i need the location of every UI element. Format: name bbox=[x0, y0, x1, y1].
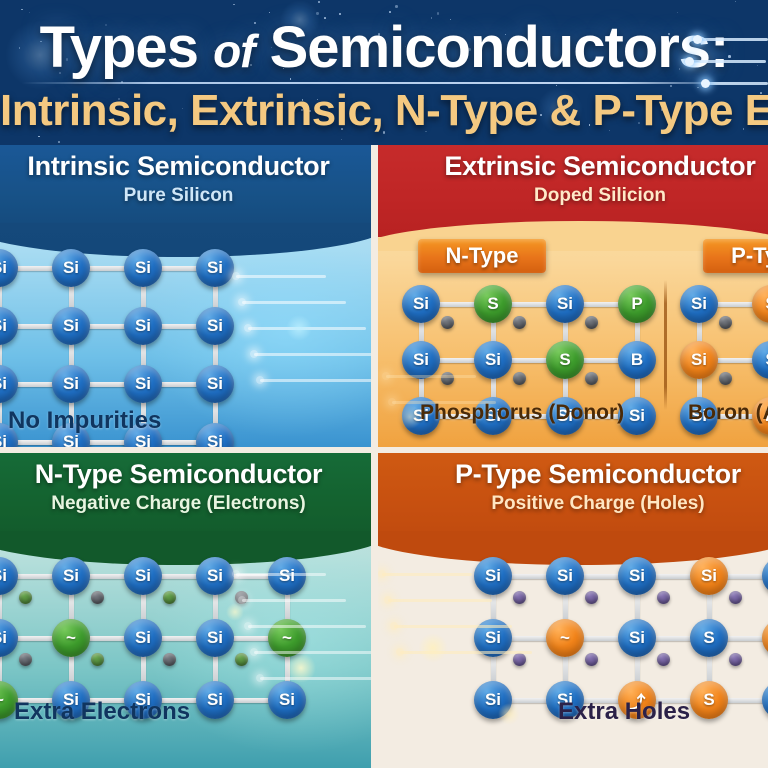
atom-si: Si bbox=[268, 681, 306, 719]
atom-si: Si bbox=[52, 307, 90, 345]
panel-caption: Extra Electrons bbox=[14, 698, 190, 726]
ribbon-n-type: N-Type bbox=[418, 239, 546, 273]
atom-si: Si bbox=[196, 365, 234, 403]
covalent-bond bbox=[715, 302, 755, 307]
atom-si: Si bbox=[402, 341, 440, 379]
charge-carrier bbox=[657, 591, 670, 604]
charge-carrier bbox=[585, 372, 598, 385]
charge-carrier bbox=[513, 653, 526, 666]
covalent-bond bbox=[159, 574, 199, 579]
circuit-node bbox=[232, 272, 240, 280]
circuit-node bbox=[396, 648, 404, 656]
circuit-trace bbox=[242, 301, 346, 304]
atom-si: Si bbox=[680, 341, 718, 379]
circuit-node bbox=[384, 596, 392, 604]
panel-caption: No Impurities bbox=[8, 407, 161, 435]
covalent-bond bbox=[653, 636, 693, 641]
panel-subheading: Negative Charge (Electrons) bbox=[0, 490, 371, 515]
circuit-trace bbox=[388, 599, 492, 602]
circuit-trace bbox=[236, 275, 326, 278]
covalent-bond bbox=[87, 266, 127, 271]
circuit-trace bbox=[382, 573, 472, 576]
covalent-bond bbox=[509, 698, 549, 703]
circuit-trace bbox=[260, 379, 371, 382]
atom-si: Si bbox=[52, 249, 90, 287]
covalent-bond bbox=[69, 654, 74, 684]
atom-si: Si bbox=[124, 365, 162, 403]
covalent-bond bbox=[581, 302, 621, 307]
atom-si: Si bbox=[124, 249, 162, 287]
title-word-types: Types bbox=[40, 15, 198, 80]
title-word-of: of bbox=[213, 25, 254, 77]
covalent-bond bbox=[581, 636, 621, 641]
circuit-trace bbox=[248, 327, 366, 330]
circuit-node bbox=[238, 298, 246, 306]
panel-heading: Extrinsic Semiconductor bbox=[378, 145, 768, 182]
covalent-bond bbox=[87, 636, 127, 641]
covalent-bond bbox=[437, 302, 477, 307]
covalent-bond bbox=[231, 636, 271, 641]
covalent-bond bbox=[159, 382, 199, 387]
covalent-bond bbox=[87, 382, 127, 387]
panel-heading: P-Type Semiconductor bbox=[378, 453, 768, 490]
atom-s: S bbox=[690, 619, 728, 657]
atom-x: ~ bbox=[546, 619, 584, 657]
panel-header: Extrinsic Semiconductor Doped Silicion bbox=[378, 145, 768, 237]
covalent-bond bbox=[15, 636, 55, 641]
covalent-bond bbox=[509, 302, 549, 307]
covalent-bond bbox=[581, 358, 621, 363]
circuit-trace bbox=[394, 625, 512, 628]
circuit-node bbox=[378, 570, 386, 578]
covalent-bond bbox=[563, 592, 568, 622]
charge-carrier bbox=[163, 591, 176, 604]
atom-si: Si bbox=[196, 557, 234, 595]
covalent-bond bbox=[725, 636, 765, 641]
atom-x: ~ bbox=[52, 619, 90, 657]
title-divider-rule bbox=[22, 82, 746, 84]
atom-si: Si bbox=[690, 557, 728, 595]
atom-si: Si bbox=[196, 681, 234, 719]
atom-si: Si bbox=[680, 285, 718, 323]
covalent-bond bbox=[213, 592, 218, 622]
covalent-bond bbox=[87, 574, 127, 579]
panel-heading: Intrinsic Semiconductor bbox=[0, 145, 371, 182]
circuit-trace bbox=[236, 573, 326, 576]
covalent-bond bbox=[159, 324, 199, 329]
atom-si: Si bbox=[618, 557, 656, 595]
covalent-bond bbox=[635, 592, 640, 622]
panel-heading: N-Type Semiconductor bbox=[0, 453, 371, 490]
covalent-bond bbox=[15, 382, 55, 387]
covalent-bond bbox=[141, 654, 146, 684]
covalent-bond bbox=[0, 654, 2, 684]
circuit-trace bbox=[254, 353, 371, 356]
charge-carrier bbox=[585, 591, 598, 604]
ribbon-p-type: P-Type bbox=[703, 239, 768, 273]
charge-carrier bbox=[91, 653, 104, 666]
panel-header: N-Type Semiconductor Negative Charge (El… bbox=[0, 453, 371, 545]
page-subtitle: Intrinsic, Extrinsic, N-Type & P-Type Ex… bbox=[0, 86, 768, 136]
atom-si: Si bbox=[196, 307, 234, 345]
page-title: Types of Semiconductors: bbox=[0, 14, 768, 81]
circuit-node bbox=[244, 622, 252, 630]
atom-s: S bbox=[690, 681, 728, 719]
covalent-bond bbox=[69, 592, 74, 622]
covalent-bond bbox=[715, 358, 755, 363]
panel-header: P-Type Semiconductor Positive Charge (Ho… bbox=[378, 453, 768, 545]
atom-si: Si bbox=[268, 557, 306, 595]
covalent-bond bbox=[707, 654, 712, 684]
covalent-bond bbox=[15, 324, 55, 329]
charge-carrier bbox=[729, 653, 742, 666]
charge-carrier bbox=[91, 591, 104, 604]
covalent-bond bbox=[563, 654, 568, 684]
covalent-bond bbox=[141, 592, 146, 622]
covalent-bond bbox=[581, 574, 621, 579]
atom-si: Si bbox=[52, 365, 90, 403]
atom-s: S bbox=[474, 285, 512, 323]
charge-carrier bbox=[19, 653, 32, 666]
circuit-trace bbox=[400, 651, 532, 654]
panel-extrinsic-semiconductor: Extrinsic Semiconductor Doped Silicion N… bbox=[378, 145, 768, 447]
atom-si: Si bbox=[474, 557, 512, 595]
covalent-bond bbox=[231, 698, 271, 703]
circuit-node bbox=[244, 324, 252, 332]
circuit-node bbox=[250, 350, 258, 358]
covalent-bond bbox=[15, 266, 55, 271]
panel-caption-boron: Boron (Acceptor) bbox=[688, 401, 768, 425]
covalent-bond bbox=[725, 698, 765, 703]
circuit-node bbox=[238, 596, 246, 604]
atom-si: Si bbox=[196, 249, 234, 287]
atom-s: S bbox=[546, 341, 584, 379]
charge-carrier bbox=[729, 591, 742, 604]
atom-si: Si bbox=[196, 619, 234, 657]
circuit-node bbox=[250, 648, 258, 656]
panel-header: Intrinsic Semiconductor Pure Silicon bbox=[0, 145, 371, 237]
charge-carrier bbox=[19, 591, 32, 604]
atom-si: Si bbox=[474, 681, 512, 719]
covalent-bond bbox=[285, 592, 290, 622]
title-word-semiconductors: Semiconductors: bbox=[270, 15, 729, 80]
circuit-trace bbox=[242, 599, 346, 602]
covalent-bond bbox=[437, 358, 477, 363]
atom-si: Si bbox=[52, 557, 90, 595]
covalent-bond bbox=[159, 266, 199, 271]
covalent-bond bbox=[491, 592, 496, 622]
covalent-bond bbox=[15, 440, 55, 445]
panel-p-type-semiconductor: P-Type Semiconductor Positive Charge (Ho… bbox=[378, 453, 768, 768]
charge-carrier bbox=[585, 653, 598, 666]
atom-si: Si bbox=[618, 619, 656, 657]
title-banner: Types of Semiconductors: Intrinsic, Extr… bbox=[0, 0, 768, 145]
charge-carrier bbox=[585, 316, 598, 329]
circuit-node bbox=[390, 622, 398, 630]
circuit-trace bbox=[392, 401, 496, 404]
charge-carrier bbox=[657, 653, 670, 666]
atom-p: P bbox=[618, 285, 656, 323]
covalent-bond bbox=[635, 654, 640, 684]
charge-carrier bbox=[513, 316, 526, 329]
circuit-node bbox=[382, 372, 390, 380]
panel-subheading: Positive Charge (Holes) bbox=[378, 490, 768, 515]
circuit-trace bbox=[248, 625, 366, 628]
covalent-bond bbox=[159, 636, 199, 641]
circuit-node bbox=[388, 398, 396, 406]
covalent-bond bbox=[213, 654, 218, 684]
charge-carrier bbox=[441, 372, 454, 385]
circuit-node bbox=[256, 674, 264, 682]
atom-si: Si bbox=[474, 341, 512, 379]
covalent-bond bbox=[87, 324, 127, 329]
circuit-node bbox=[256, 376, 264, 384]
panel-intrinsic-semiconductor: Intrinsic Semiconductor Pure Silicon SiS… bbox=[0, 145, 371, 447]
panel-subheading: Pure Silicon bbox=[0, 182, 371, 207]
atom-si: Si bbox=[124, 307, 162, 345]
covalent-bond bbox=[509, 636, 549, 641]
panel-subheading: Doped Silicion bbox=[378, 182, 768, 207]
atom-si: Si bbox=[546, 285, 584, 323]
covalent-bond bbox=[0, 592, 2, 622]
covalent-bond bbox=[491, 654, 496, 684]
charge-carrier bbox=[719, 372, 732, 385]
covalent-bond bbox=[509, 574, 549, 579]
charge-carrier bbox=[163, 653, 176, 666]
covalent-bond bbox=[653, 574, 693, 579]
covalent-bond bbox=[509, 358, 549, 363]
panel-caption-phosphorus: Phosphorus (Donor) bbox=[420, 401, 624, 425]
circuit-trace bbox=[260, 677, 371, 680]
atom-si: Si bbox=[124, 557, 162, 595]
charge-carrier bbox=[513, 591, 526, 604]
charge-carrier bbox=[441, 316, 454, 329]
atom-b: B bbox=[618, 341, 656, 379]
charge-carrier bbox=[235, 653, 248, 666]
covalent-bond bbox=[159, 440, 199, 445]
charge-carrier bbox=[513, 372, 526, 385]
atom-si: Si bbox=[124, 619, 162, 657]
atom-si: Si bbox=[546, 557, 584, 595]
panel-n-type-semiconductor: N-Type Semiconductor Negative Charge (El… bbox=[0, 453, 371, 768]
charge-carrier bbox=[719, 316, 732, 329]
covalent-bond bbox=[87, 440, 127, 445]
atom-si: Si bbox=[402, 285, 440, 323]
circuit-node bbox=[232, 570, 240, 578]
covalent-bond bbox=[707, 592, 712, 622]
covalent-bond bbox=[725, 574, 765, 579]
circuit-trace bbox=[254, 651, 371, 654]
subpanel-divider bbox=[664, 280, 667, 410]
covalent-bond bbox=[15, 574, 55, 579]
circuit-trace bbox=[386, 375, 476, 378]
panel-caption: Extra Holes bbox=[558, 698, 690, 726]
panel-grid: Intrinsic Semiconductor Pure Silicon SiS… bbox=[0, 145, 768, 768]
